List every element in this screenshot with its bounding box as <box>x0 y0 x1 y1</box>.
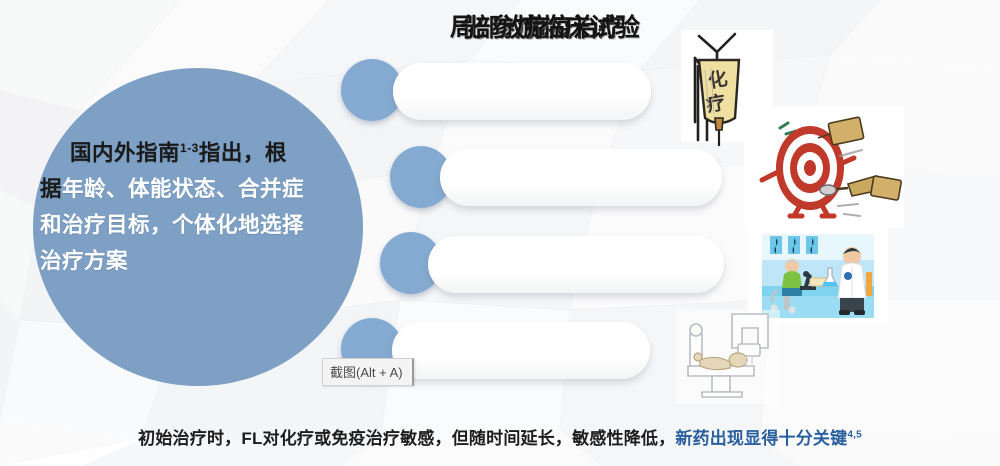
summary-lead: 国内外指南 <box>40 141 180 165</box>
radiotherapy-machine-icon <box>676 310 780 404</box>
summary-line-3: 和治疗目标，个体化地选择 <box>40 213 304 237</box>
footer-superscript: 4,5 <box>847 429 862 440</box>
footer-caption: 初始治疗时，FL对化疗或免疫治疗敏感，但随时间延长，敏感性降低，新药出现显得十分… <box>0 424 1000 449</box>
summary-lead-3: 据 <box>40 177 62 201</box>
option-pill-clinical-trial[interactable] <box>428 236 724 293</box>
summary-line-2: 年龄、体能状态、合并症 <box>62 177 304 201</box>
footer-highlight: 新药出现显得十分关键 <box>675 429 847 448</box>
summary-text: 国内外指南1-3指出，根 据年龄、体能状态、合并症 和治疗目标，个体化地选择 治… <box>40 130 358 279</box>
svg-text:化: 化 <box>707 67 730 93</box>
slide-canvas: 国内外指南1-3指出，根 据年龄、体能状态、合并症 和治疗目标，个体化地选择 治… <box>0 0 1000 466</box>
dartboard-target-icon <box>744 106 904 228</box>
screenshot-tooltip: 截图(Alt + A) <box>322 358 414 386</box>
option-pill-chemotherapy[interactable] <box>393 63 651 120</box>
summary-lead-superscript: 1-3 <box>180 141 199 155</box>
option-pill-immunotherapy[interactable] <box>440 149 722 206</box>
footer-text: 初始治疗时，FL对化疗或免疫治疗敏感，但随时间延长，敏感性降低， <box>138 429 675 448</box>
option-pill-local-radiotherapy[interactable] <box>392 322 650 379</box>
summary-lead-2: 指出，根 <box>199 141 287 165</box>
option-label-local-radiotherapy: 局部放疗 <box>450 0 550 57</box>
summary-line-4: 治疗方案 <box>40 249 128 273</box>
